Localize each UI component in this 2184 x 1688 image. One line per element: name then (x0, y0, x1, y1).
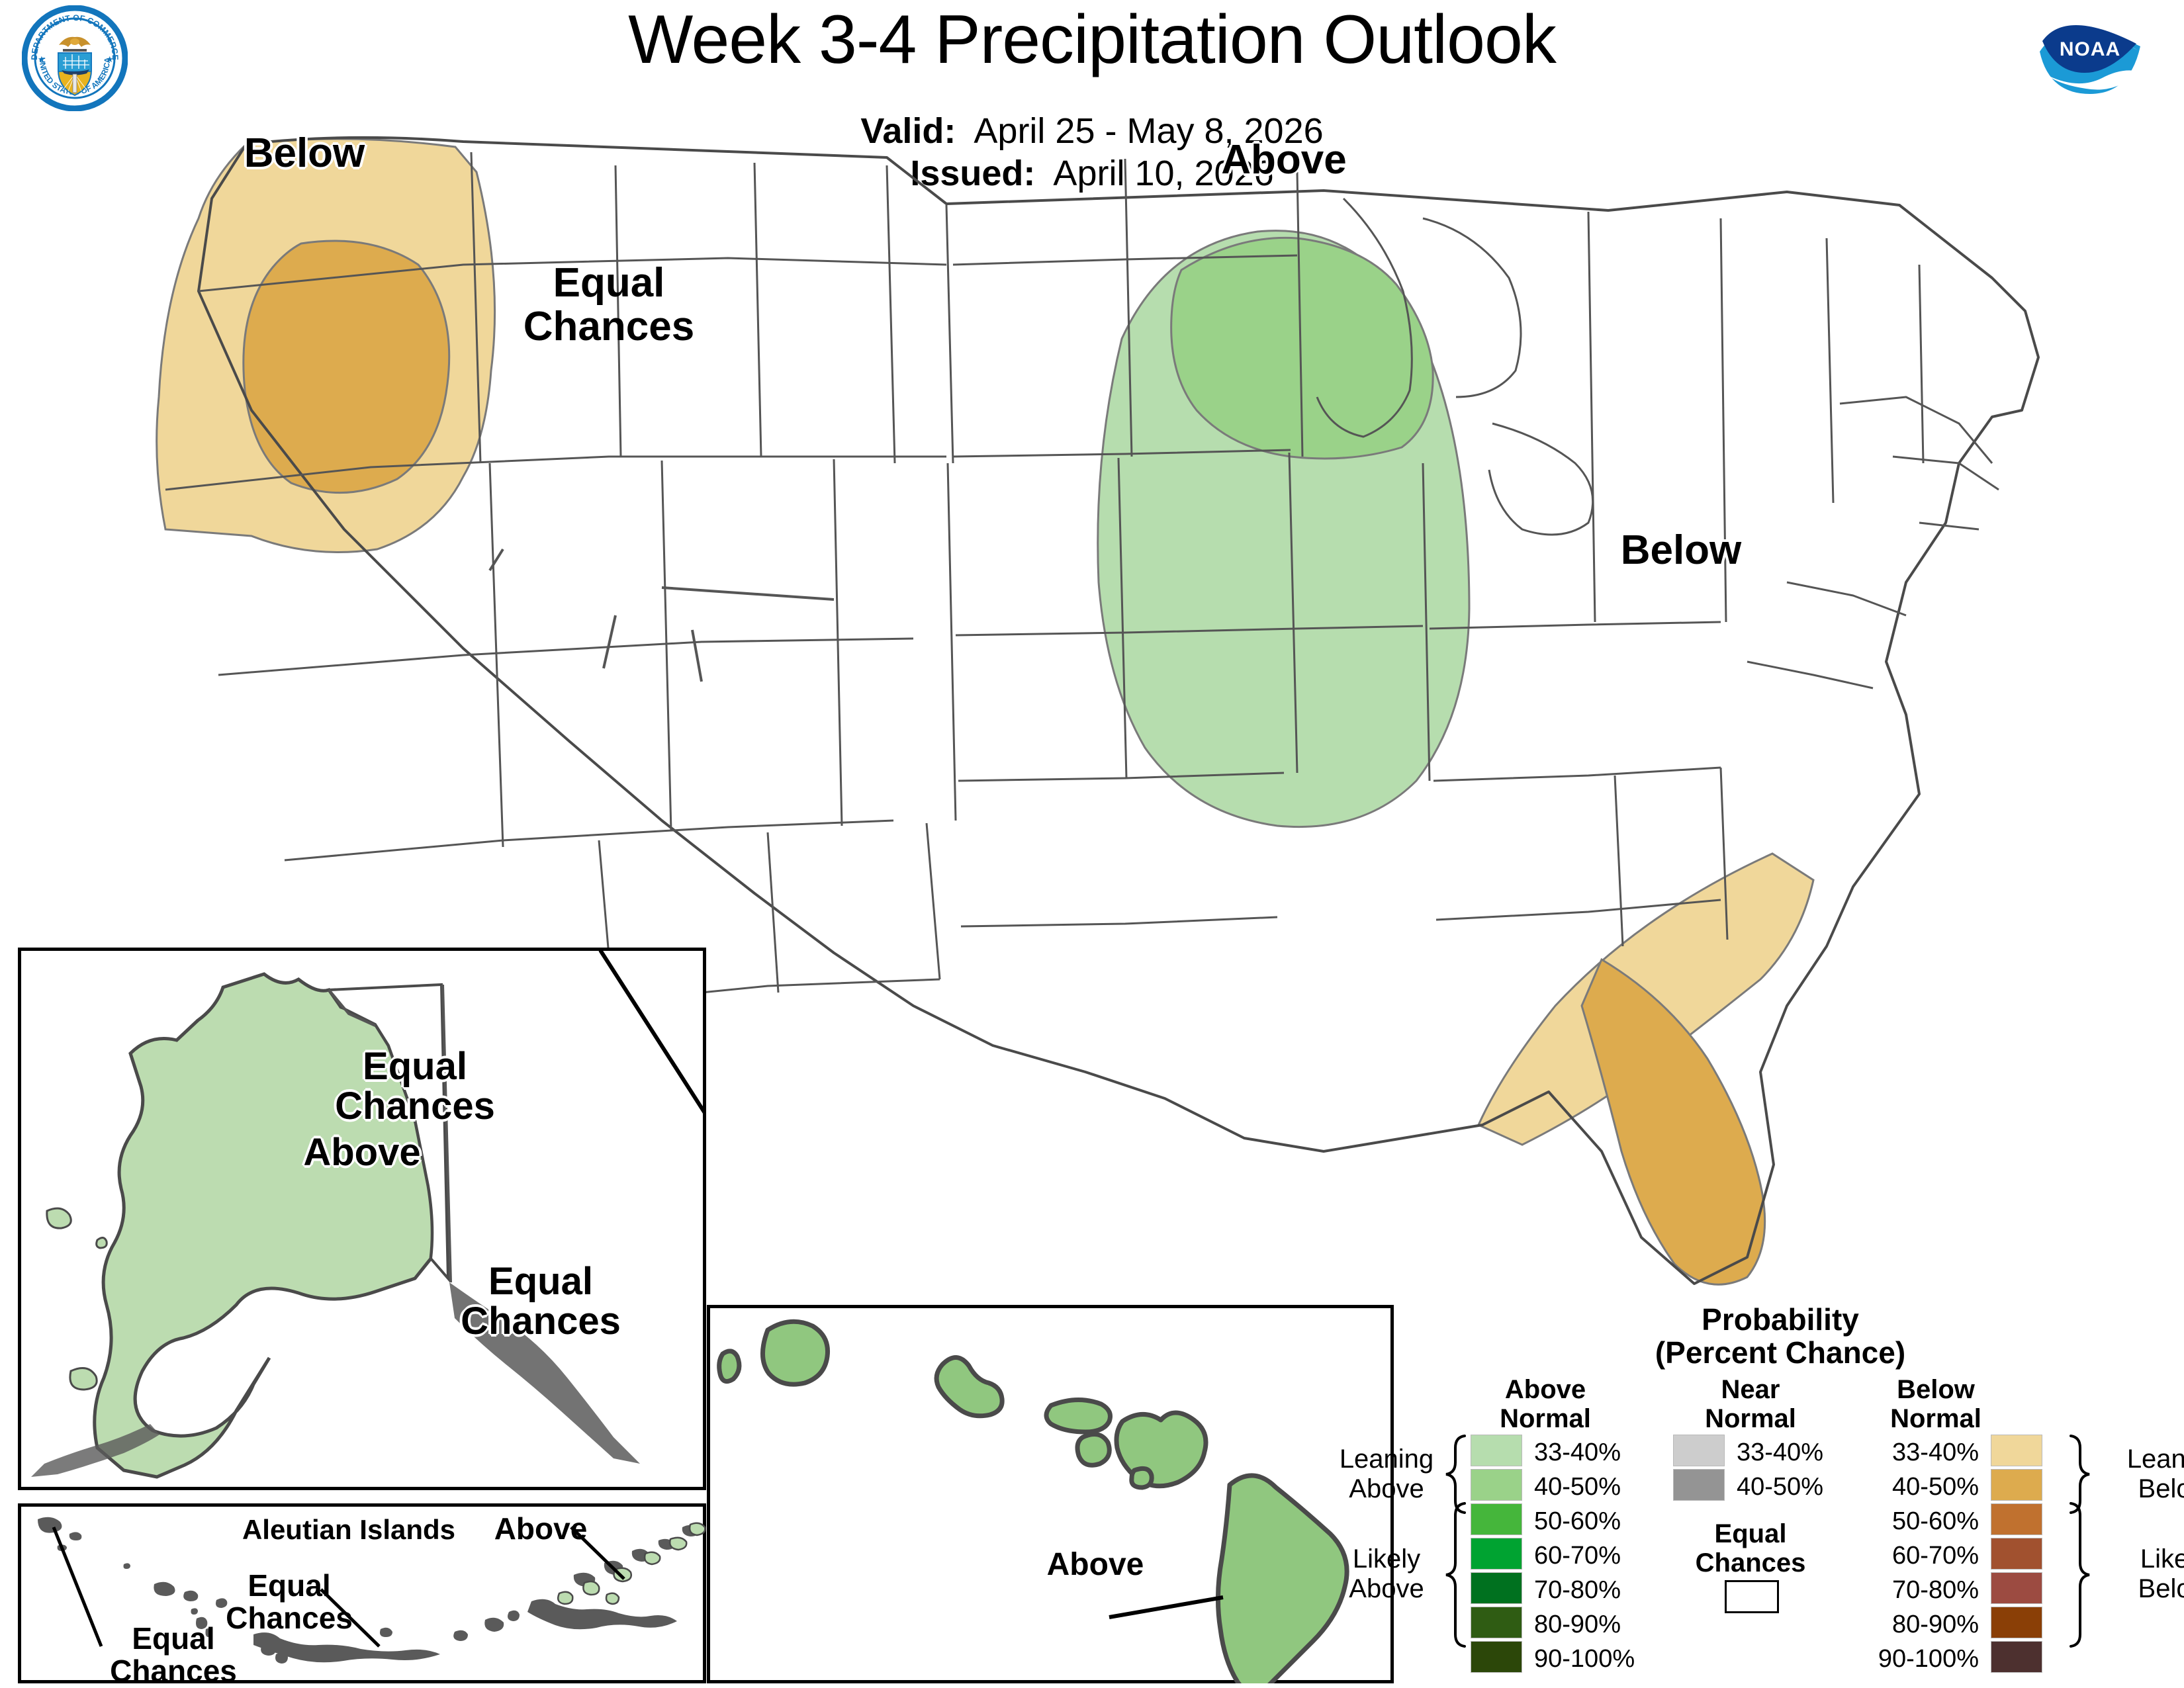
legend-range-above-70-80: 70-80% (1534, 1576, 1680, 1605)
alaska-inset-panel: Equal Chances Above Equal Chances (18, 948, 706, 1490)
hawaii-inset-map (707, 1305, 1394, 1683)
map-label-florida-below: Below (1575, 529, 1787, 572)
legend-swatch-below-50-60 (1991, 1503, 2042, 1535)
legend-title: Probability (Percent Chance) (1396, 1304, 2164, 1369)
aleutian-label-above: Above (468, 1513, 614, 1545)
legend-brace-label-likely-above: Likely Above (1310, 1544, 1463, 1604)
probability-legend: Probability (Percent Chance) Above Norma… (1396, 1309, 2164, 1683)
aleutian-islands-title: Aleutian Islands (236, 1515, 461, 1545)
legend-range-below-70-80: 70-80% (1833, 1576, 1979, 1605)
legend-swatch-below-60-70 (1991, 1538, 2042, 1570)
legend-swatch-below-33-40 (1991, 1435, 2042, 1466)
legend-range-above-80-90: 80-90% (1534, 1611, 1680, 1639)
equal-chances-leader-lines (490, 549, 834, 682)
map-label-midwest-above: Above (1178, 139, 1390, 181)
alaska-label-above: Above (250, 1133, 475, 1173)
legend-range-below-60-70: 60-70% (1833, 1542, 1979, 1570)
legend-range-above-33-40: 33-40% (1534, 1439, 1680, 1467)
legend-range-below-33-40: 33-40% (1833, 1439, 1979, 1467)
legend-swatch-above-40-50 (1471, 1469, 1522, 1501)
legend-column-header-near-normal: Near Normal (1674, 1375, 1827, 1433)
legend-brace-label-leaning-below: Leaning Below (2098, 1444, 2184, 1504)
hawaii-label-above: Above (1019, 1548, 1171, 1582)
alaska-label-equal-chances-north: Equal Chances (302, 1047, 527, 1127)
legend-range-above-50-60: 50-60% (1534, 1507, 1680, 1536)
legend-swatch-above-90-100 (1471, 1641, 1522, 1673)
region-midwest-above (1098, 231, 1469, 827)
legend-brace-label-leaning-above: Leaning Above (1310, 1444, 1463, 1504)
legend-range-above-90-100: 90-100% (1534, 1645, 1680, 1673)
legend-range-below-40-50: 40-50% (1833, 1473, 1979, 1501)
legend-column-header-below-normal: Below Normal (1860, 1375, 2012, 1433)
legend-range-below-50-60: 50-60% (1833, 1507, 1979, 1536)
map-label-center-equal-chances: Equal Chances (477, 261, 741, 348)
region-northwest-below (157, 139, 495, 553)
legend-swatch-above-33-40 (1471, 1435, 1522, 1466)
aleutian-label-equal-chances-west: Equal Chances (87, 1622, 259, 1687)
legend-range-above-60-70: 60-70% (1534, 1542, 1680, 1570)
legend-swatch-above-50-60 (1471, 1503, 1522, 1535)
legend-range-below-80-90: 80-90% (1833, 1611, 1979, 1639)
legend-equal-chances-label: Equal Chances (1674, 1519, 1827, 1577)
legend-brace-label-likely-below: Likely Below (2098, 1544, 2184, 1604)
aleutian-inset-panel: Aleutian Islands Above Equal Chances Equ… (18, 1503, 706, 1683)
legend-range-above-40-50: 40-50% (1534, 1473, 1680, 1501)
legend-range-below-90-100: 90-100% (1833, 1645, 1979, 1673)
legend-swatch-below-80-90 (1991, 1607, 2042, 1638)
legend-swatch-below-40-50 (1991, 1469, 2042, 1501)
map-label-northwest-below: Below (199, 132, 410, 175)
alaska-label-equal-chances-southeast: Equal Chances (428, 1262, 653, 1342)
legend-swatch-above-80-90 (1471, 1607, 1522, 1638)
alaska-inset-map (18, 948, 706, 1490)
region-southeast-below (1479, 854, 1813, 1284)
legend-swatch-below-70-80 (1991, 1572, 2042, 1604)
legend-swatch-near-33-40 (1673, 1435, 1725, 1466)
legend-swatch-below-90-100 (1991, 1641, 2042, 1673)
legend-swatch-near-40-50 (1673, 1469, 1725, 1501)
hawaii-inset-panel (707, 1305, 1394, 1683)
legend-column-header-above-normal: Above Normal (1469, 1375, 1621, 1433)
legend-swatch-equal-chances (1725, 1580, 1779, 1613)
legend-swatch-above-70-80 (1471, 1572, 1522, 1604)
legend-swatch-above-60-70 (1471, 1538, 1522, 1570)
